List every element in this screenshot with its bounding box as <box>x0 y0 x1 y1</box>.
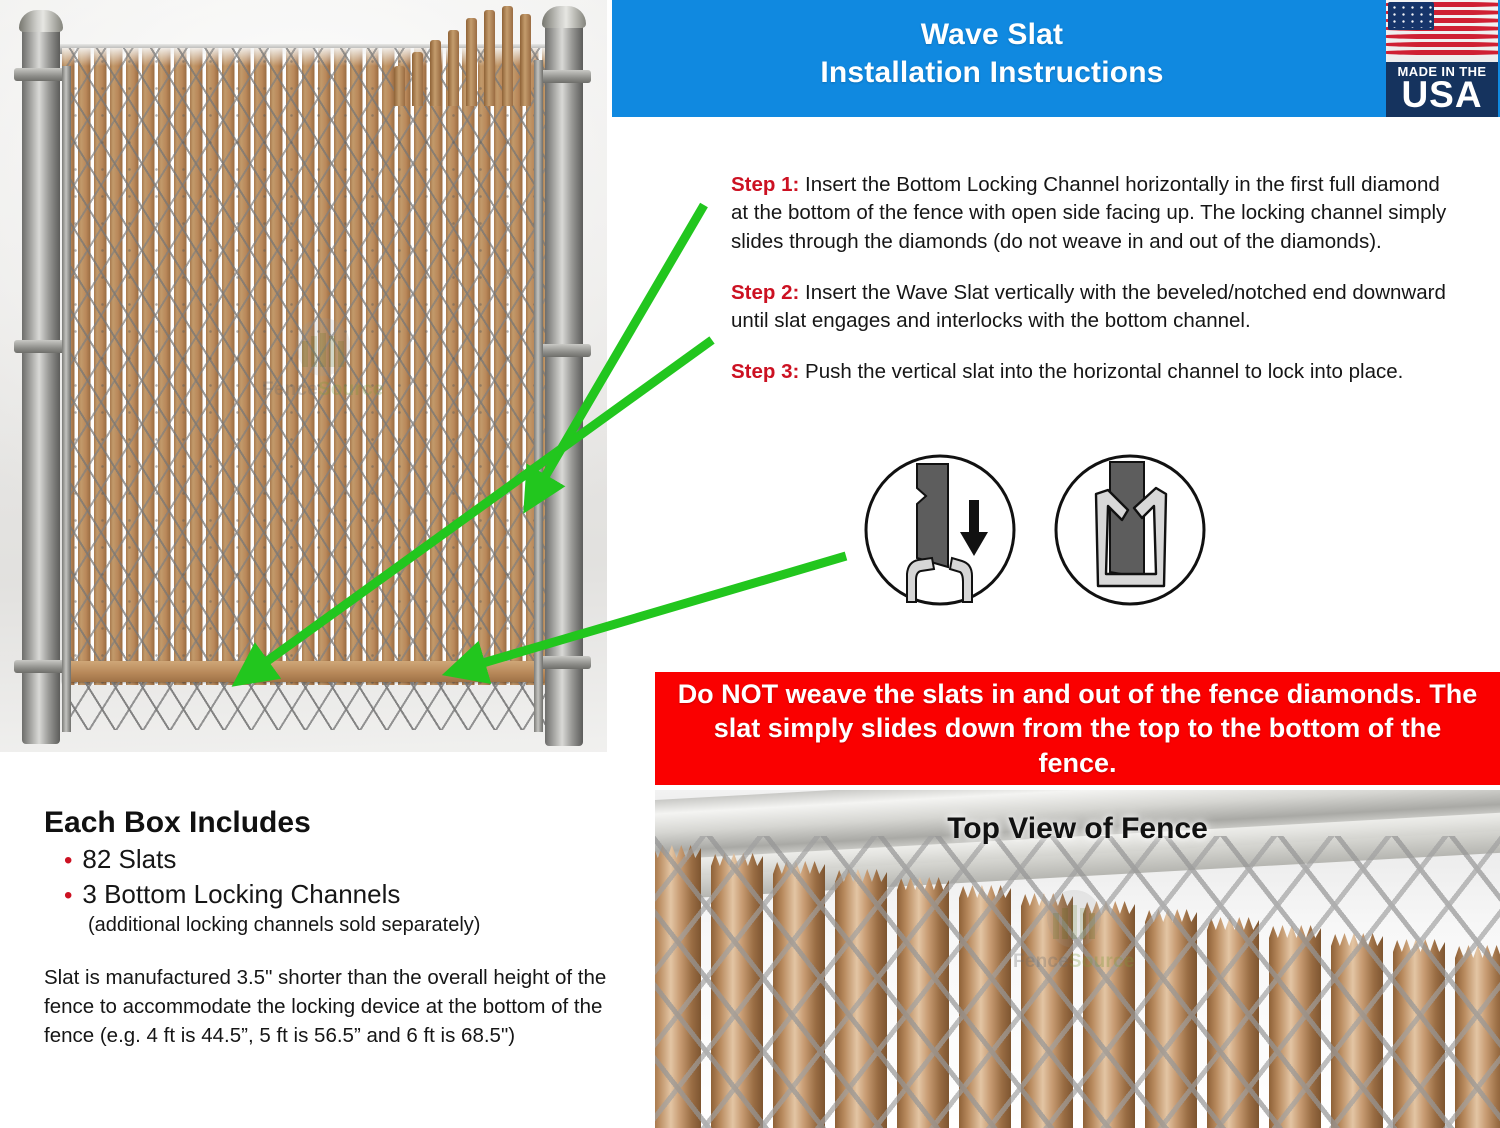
usa-label: USA <box>1386 76 1498 113</box>
inserting-slat <box>394 66 405 106</box>
right-post-band <box>537 344 591 357</box>
bullet-icon: • <box>64 884 72 908</box>
inserting-slat <box>412 52 423 106</box>
box-contents-info: Each Box Includes • 82 Slats • 3 Bottom … <box>44 806 609 1050</box>
step-2-label: Step 2: <box>731 281 799 304</box>
made-in-usa-badge: MADE IN THE USA <box>1386 0 1498 117</box>
box-includes-title: Each Box Includes <box>44 806 609 840</box>
inserting-slat <box>484 10 495 106</box>
fence-installation-photo: FenceSource <box>0 0 607 752</box>
inserting-slat <box>448 30 459 106</box>
bare-mesh-below-channel <box>62 682 549 730</box>
top-view-photo: Top View of Fence FenceSource <box>655 790 1500 1128</box>
top-view-mesh-overlay <box>655 836 1500 1128</box>
step-2: Step 2: Insert the Wave Slat vertically … <box>731 279 1453 336</box>
inserting-slat <box>466 18 477 106</box>
bullet-icon: • <box>64 849 72 873</box>
page-title: Wave Slat Installation Instructions <box>612 16 1372 93</box>
inserting-slat <box>430 40 441 106</box>
left-post-cap <box>19 10 63 32</box>
warning-banner: Do NOT weave the slats in and out of the… <box>655 672 1500 785</box>
left-post-band <box>14 660 68 673</box>
right-post-band <box>537 656 591 669</box>
left-fence-post <box>22 26 60 744</box>
header-banner: Wave Slat Installation Instructions MADE… <box>612 0 1500 117</box>
list-item: • 3 Bottom Locking Channels <box>64 879 609 910</box>
slat-inserting-into-channel-diagram <box>862 452 1018 608</box>
slat-length-note: Slat is manufactured 3.5" shorter than t… <box>44 963 609 1050</box>
step-3-text: Push the vertical slat into the horizont… <box>799 360 1403 383</box>
step-3: Step 3: Push the vertical slat into the … <box>731 358 1453 387</box>
additional-channels-note: (additional locking channels sold separa… <box>88 914 609 937</box>
usa-flag-icon <box>1386 0 1498 62</box>
title-line-1: Wave Slat <box>612 16 1372 54</box>
step-3-label: Step 3: <box>731 360 799 383</box>
left-post-band <box>14 340 68 353</box>
box-item-channels: 3 Bottom Locking Channels <box>82 879 400 910</box>
step-1-text: Insert the Bottom Locking Channel horizo… <box>731 173 1446 253</box>
infographic-page: FenceSource Wave Slat Installation Instr… <box>0 0 1500 1128</box>
steps-list: Step 1: Insert the Bottom Locking Channe… <box>731 150 1453 409</box>
list-item: • 82 Slats <box>64 844 609 875</box>
title-line-2: Installation Instructions <box>612 54 1372 92</box>
top-view-label: Top View of Fence <box>655 812 1500 846</box>
warning-text: Do NOT weave the slats in and out of the… <box>655 672 1500 785</box>
step-2-text: Insert the Wave Slat vertically with the… <box>731 281 1446 333</box>
chain-link-mesh-with-slats <box>62 48 547 685</box>
box-item-slats: 82 Slats <box>82 844 176 875</box>
mesh-knuckle-dots <box>62 48 547 685</box>
step-1-label: Step 1: <box>731 173 799 196</box>
wave-slats-top-view <box>655 836 1500 1128</box>
inserting-slat <box>520 14 531 106</box>
left-tension-bar <box>62 66 71 732</box>
step-1: Step 1: Insert the Bottom Locking Channe… <box>731 171 1453 257</box>
right-post-band <box>537 70 591 83</box>
right-post-cap <box>542 6 586 28</box>
inserting-slat <box>502 6 513 106</box>
right-tension-bar <box>534 60 543 732</box>
locking-diagrams <box>862 452 1242 648</box>
right-fence-post <box>545 20 583 746</box>
left-post-band <box>14 68 68 81</box>
slat-locked-in-channel-diagram <box>1052 452 1208 608</box>
